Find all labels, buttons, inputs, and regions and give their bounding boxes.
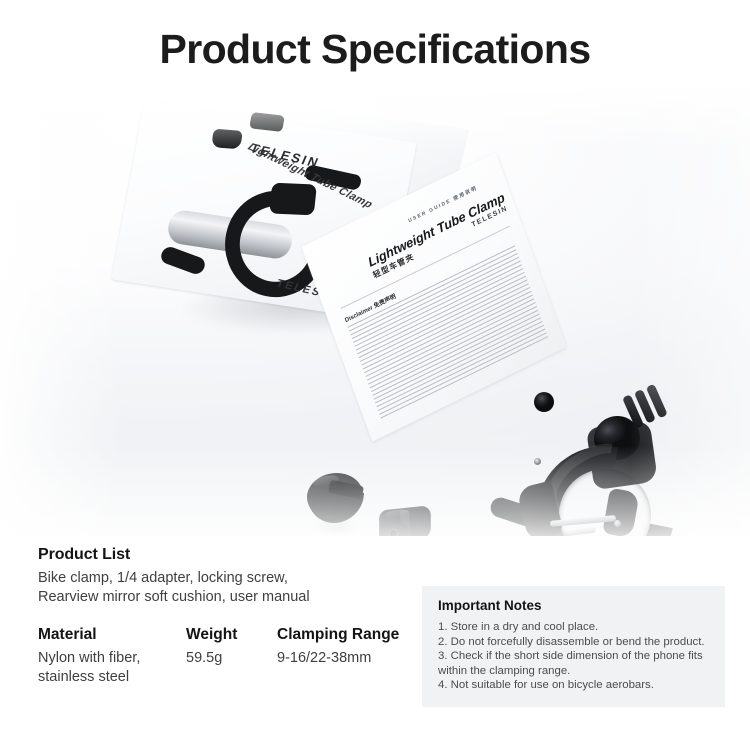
product-list-heading: Product List [38,546,418,564]
product-specification-page: Product Specifications TELESIN Lightweig… [0,0,750,750]
spec-value-clamping-range: 9-16/22-38mm [277,649,418,687]
spec-table: Material Weight Clamping Range Nylon wit… [38,626,418,687]
note-item: 2. Do not forcefully disassemble or bend… [438,635,711,650]
product-list-line-1: Bike clamp, 1/4 adapter, locking screw, [38,569,418,588]
important-notes-panel: Important Notes 1. Store in a dry and co… [422,586,725,707]
important-notes-title: Important Notes [438,598,711,613]
spec-header-clamping-range: Clamping Range [277,626,418,649]
note-item: 3. Check if the short side dimension of … [438,649,711,664]
specifications-block: Product List Bike clamp, 1/4 adapter, lo… [38,546,418,687]
note-item: within the clamping range. [438,664,711,679]
spec-value-material-line-1: Nylon with fiber, [38,649,186,668]
page-title: Product Specifications [0,26,750,73]
spec-value-weight: 59.5g [186,649,277,687]
product-list-line-2: Rearview mirror soft cushion, user manua… [38,588,418,607]
note-item: 1. Store in a dry and cool place. [438,620,711,635]
spec-value-material-line-2: stainless steel [38,668,186,687]
important-notes-list: 1. Store in a dry and cool place. 2. Do … [438,620,711,693]
spec-header-weight: Weight [186,626,277,649]
spec-value-material: Nylon with fiber, stainless steel [38,649,186,687]
spec-header-material: Material [38,626,186,649]
stage-vignette [0,88,750,536]
note-item: 4. Not suitable for use on bicycle aerob… [438,678,711,693]
product-photo: TELESIN Lightweight Tube Clamp TELESIN U… [0,88,750,536]
